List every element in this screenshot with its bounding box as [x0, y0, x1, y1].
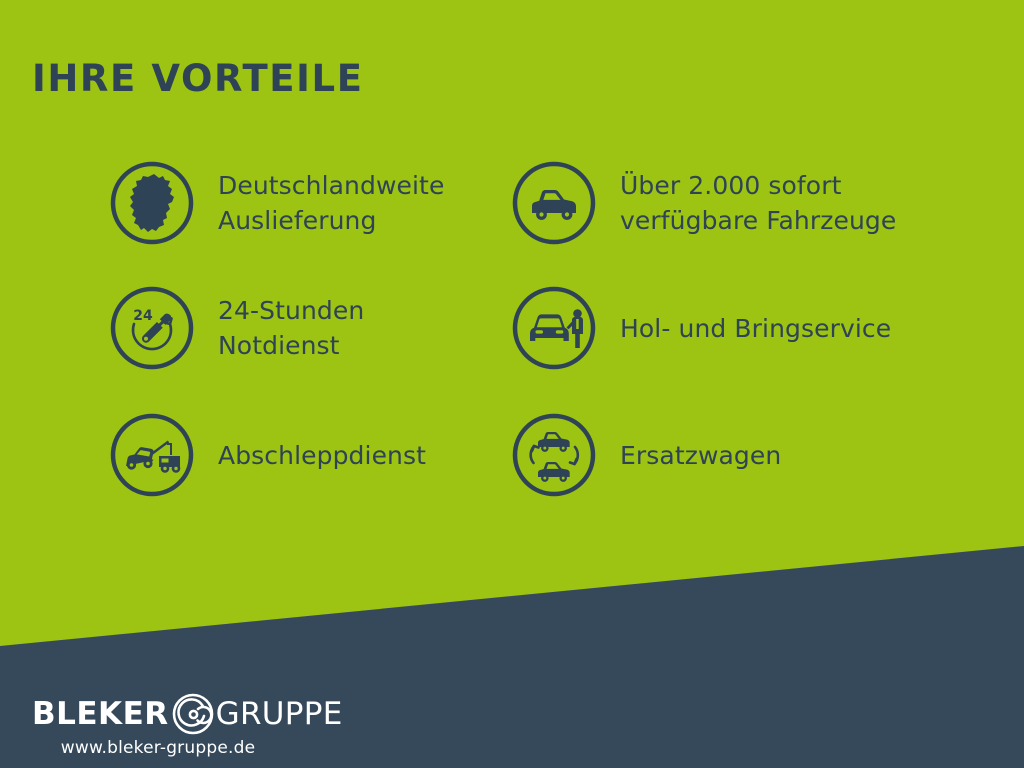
- benefit-label: Ersatzwagen: [620, 438, 781, 473]
- tow-truck-icon: [110, 413, 194, 497]
- benefit-label: Abschleppdienst: [218, 438, 426, 473]
- logo-bleker-text: BLEKER: [32, 699, 169, 730]
- benefit-label: Über 2.000 sofort verfügbare Fahrzeuge: [620, 168, 896, 238]
- benefit-item-verfuegbare-fahrzeuge[interactable]: Über 2.000 sofort verfügbare Fahrzeuge: [512, 161, 896, 245]
- car-side-icon: [512, 161, 596, 245]
- benefit-label: 24-Stunden Notdienst: [218, 293, 364, 363]
- footer-logo-block[interactable]: BLEKER GRUPPE www.bleker-gruppe.de: [32, 694, 343, 756]
- green-angled-background: [0, 0, 1024, 768]
- logo-gruppe-text: GRUPPE: [216, 699, 343, 730]
- footer-website-url[interactable]: www.bleker-gruppe.de: [32, 738, 284, 758]
- benefit-item-24-stunden-notdienst[interactable]: 24 24-Stunden Notdienst: [110, 286, 364, 370]
- benefit-item-hol-und-bringservice[interactable]: Hol- und Bringservice: [512, 286, 891, 370]
- logo-row: BLEKER GRUPPE: [32, 694, 343, 734]
- page-title: IHRE VORTEILE: [32, 60, 364, 97]
- benefit-item-ersatzwagen[interactable]: Ersatzwagen: [512, 413, 781, 497]
- germany-map-icon: [110, 161, 194, 245]
- benefit-label: Hol- und Bringservice: [620, 311, 891, 346]
- clock-wrench-24-icon: 24: [110, 286, 194, 370]
- benefit-item-abschleppdienst[interactable]: Abschleppdienst: [110, 413, 426, 497]
- car-attendant-icon: [512, 286, 596, 370]
- benefit-label: Deutschlandweite Auslieferung: [218, 168, 444, 238]
- clock-badge-label: 24: [133, 308, 153, 324]
- benefit-item-deutschlandweite-auslieferung[interactable]: Deutschlandweite Auslieferung: [110, 161, 444, 245]
- slide-canvas: IHRE VORTEILE Deutschlandweite Ausliefer…: [0, 0, 1024, 768]
- two-cars-exchange-icon: [512, 413, 596, 497]
- spiral-icon: [171, 692, 215, 736]
